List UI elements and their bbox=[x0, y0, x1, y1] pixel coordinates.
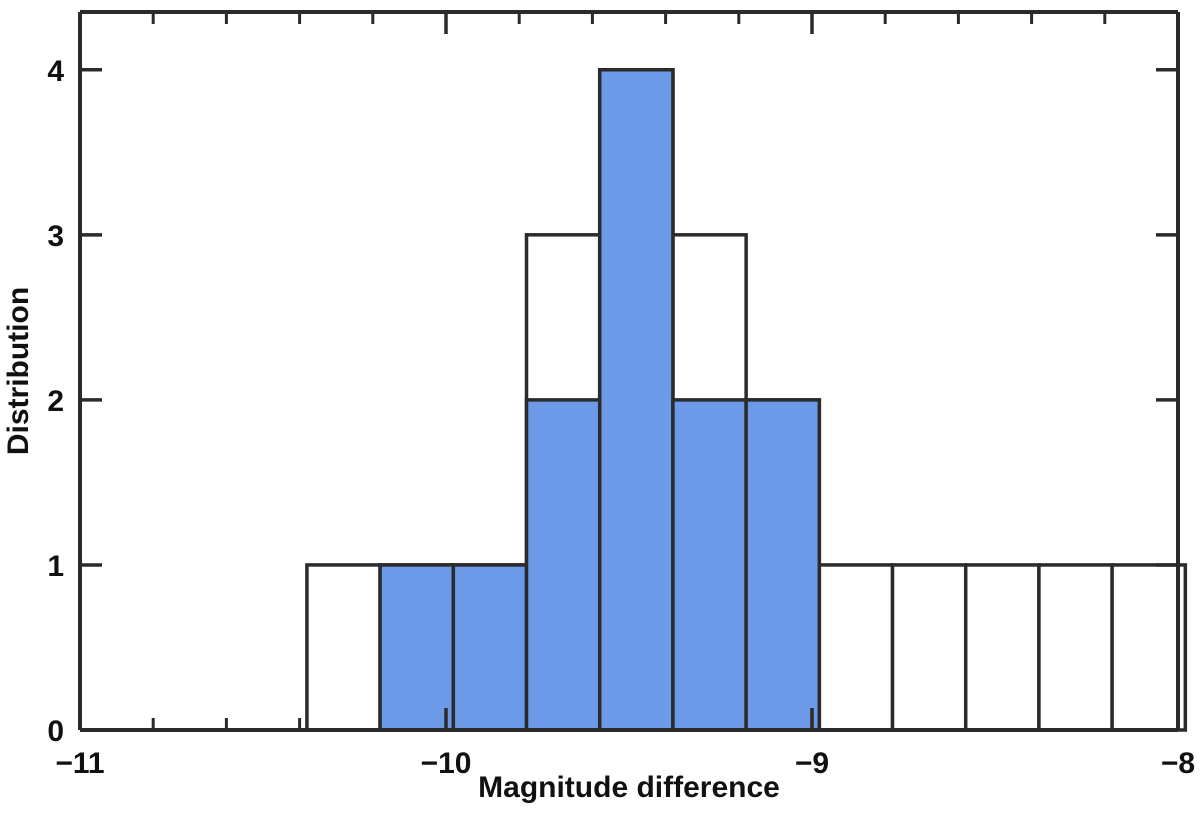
x-axis-label: Magnitude difference bbox=[478, 771, 780, 804]
histogram-bar bbox=[527, 400, 600, 730]
y-tick-label: 2 bbox=[47, 385, 64, 418]
y-tick-label: 3 bbox=[47, 220, 64, 253]
x-tick-label: −11 bbox=[55, 747, 104, 780]
histogram-bar bbox=[453, 565, 526, 730]
y-tick-label: 4 bbox=[47, 55, 64, 88]
x-tick-label: −9 bbox=[795, 747, 829, 780]
chart-figure: 01234 −11−10−9−8 Magnitude difference Di… bbox=[0, 0, 1200, 815]
histogram-bar bbox=[1039, 565, 1112, 730]
histogram-bar bbox=[1112, 565, 1185, 730]
histogram-bar bbox=[307, 565, 380, 730]
histogram-bar bbox=[819, 565, 892, 730]
histogram-bar bbox=[893, 565, 966, 730]
histogram-bar bbox=[966, 565, 1039, 730]
y-axis-tick-labels: 01234 bbox=[47, 55, 64, 748]
x-tick-label: −10 bbox=[421, 747, 472, 780]
x-tick-label: −8 bbox=[1161, 747, 1195, 780]
y-tick-label: 1 bbox=[47, 550, 64, 583]
histogram-plot: 01234 −11−10−9−8 Magnitude difference Di… bbox=[0, 0, 1200, 815]
histogram-bar bbox=[746, 400, 819, 730]
y-tick-label: 0 bbox=[47, 715, 64, 748]
histogram-bar bbox=[673, 400, 746, 730]
histogram-bar bbox=[380, 565, 453, 730]
histogram-bar bbox=[600, 70, 673, 730]
y-axis-label: Distribution bbox=[2, 287, 35, 455]
